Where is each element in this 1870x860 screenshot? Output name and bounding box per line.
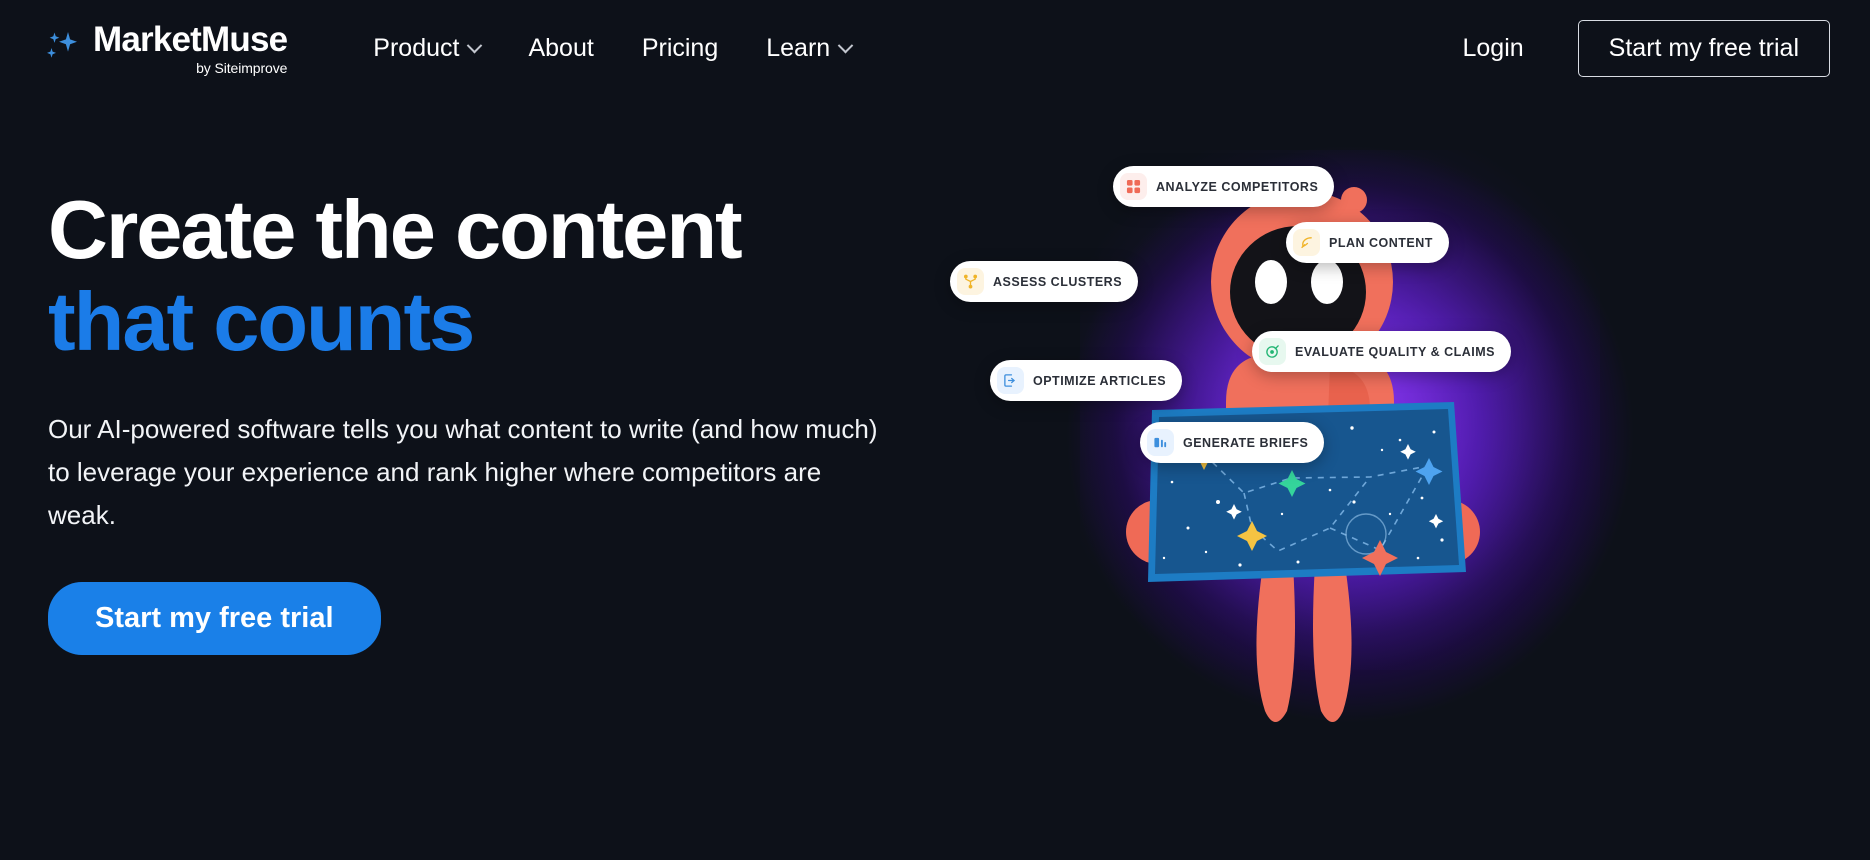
- badge-label: ASSESS CLUSTERS: [993, 275, 1122, 289]
- badge-generate-briefs[interactable]: GENERATE BRIEFS: [1140, 422, 1324, 463]
- hero-section: Create the content that counts Our AI-po…: [0, 96, 940, 655]
- robot-eye-right: [1311, 260, 1343, 304]
- robot-eye-left: [1255, 260, 1287, 304]
- badge-label: OPTIMIZE ARTICLES: [1033, 374, 1166, 388]
- nav-label-about: About: [528, 34, 593, 63]
- hero-subcopy: Our AI-powered software tells you what c…: [48, 408, 888, 537]
- logo-marketmuse[interactable]: MarketMuse by Siteimprove: [45, 21, 287, 76]
- headline-accent: that counts: [48, 275, 473, 368]
- hero-start-trial-button[interactable]: Start my free trial: [48, 582, 381, 655]
- feather-icon: [1293, 229, 1320, 256]
- login-link[interactable]: Login: [1463, 34, 1524, 63]
- cluster-icon: [957, 268, 984, 295]
- nav-item-about[interactable]: About: [504, 24, 617, 73]
- headline-primary: Create the content: [48, 183, 741, 276]
- target-icon: [1259, 338, 1286, 365]
- nav-label-learn: Learn: [766, 34, 830, 63]
- badge-analyze-competitors[interactable]: ANALYZE COMPETITORS: [1113, 166, 1334, 207]
- nav-label-product: Product: [373, 34, 459, 63]
- badge-evaluate-quality-claims[interactable]: EVALUATE QUALITY & CLAIMS: [1252, 331, 1511, 372]
- badge-assess-clusters[interactable]: ASSESS CLUSTERS: [950, 261, 1138, 302]
- header-start-trial-button[interactable]: Start my free trial: [1578, 20, 1830, 77]
- badge-label: ANALYZE COMPETITORS: [1156, 180, 1318, 194]
- site-header: MarketMuse by Siteimprove Product About …: [0, 0, 1870, 96]
- nav-label-pricing: Pricing: [642, 34, 718, 63]
- chevron-down-icon: [467, 37, 483, 53]
- export-icon: [997, 367, 1024, 394]
- chevron-down-icon: [838, 37, 854, 53]
- main-navigation: Product About Pricing Learn: [349, 24, 875, 73]
- badge-label: EVALUATE QUALITY & CLAIMS: [1295, 345, 1495, 359]
- hero-illustration: [1030, 110, 1710, 770]
- logo-wordmark: MarketMuse: [93, 21, 287, 59]
- sparkles-icon: [45, 28, 79, 68]
- badge-label: GENERATE BRIEFS: [1183, 436, 1308, 450]
- header-actions: Login Start my free trial: [1463, 20, 1831, 77]
- badge-plan-content[interactable]: PLAN CONTENT: [1286, 222, 1449, 263]
- badge-optimize-articles[interactable]: OPTIMIZE ARTICLES: [990, 360, 1182, 401]
- nav-item-learn[interactable]: Learn: [742, 24, 875, 73]
- astronaut-robot-svg: [1030, 110, 1710, 770]
- badge-label: PLAN CONTENT: [1329, 236, 1433, 250]
- grid-icon: [1120, 173, 1147, 200]
- logo-tagline: by Siteimprove: [93, 60, 287, 76]
- nav-item-product[interactable]: Product: [349, 24, 504, 73]
- nav-item-pricing[interactable]: Pricing: [618, 24, 742, 73]
- robot-legs: [1256, 565, 1351, 722]
- page-title: Create the content that counts: [48, 184, 858, 368]
- chart-icon: [1147, 429, 1174, 456]
